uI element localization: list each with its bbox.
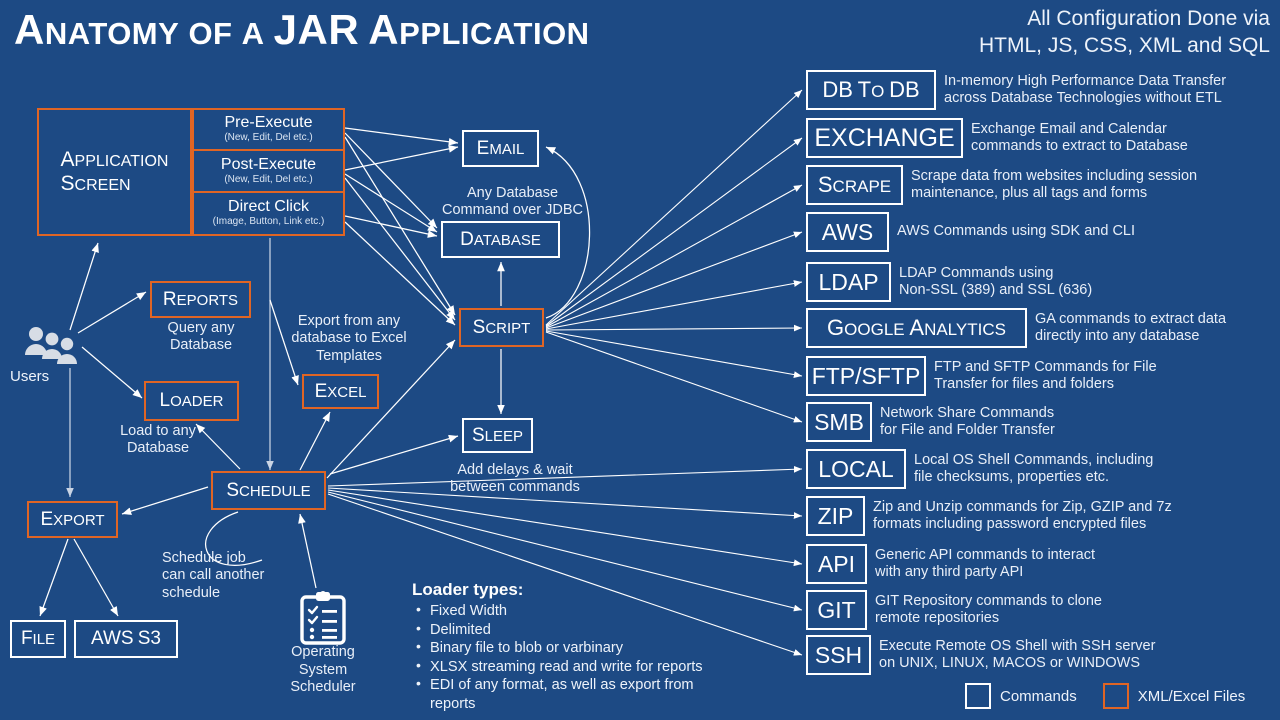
node-database[interactable]: DATABASE [441, 221, 560, 258]
command-desc-scrape: Scrape data from websites including sess… [911, 168, 1197, 203]
command-desc-zip: Zip and Unzip commands for Zip, GZIP and… [873, 499, 1172, 534]
command-desc-smb: Network Share Commandsfor File and Folde… [880, 405, 1055, 440]
command-label-aws: AWS [822, 219, 874, 246]
command-row-smb: SMBNetwork Share Commandsfor File and Fo… [806, 402, 1055, 442]
caption-load-to-any-database: Load to anyDatabase [88, 423, 228, 458]
cell-post-execute-sub: (New, Edit, Del etc.) [224, 175, 312, 186]
command-box-db-to-db[interactable]: DB TO DB [806, 70, 936, 110]
loader-type-item: Binary file to blob or varbinary [412, 639, 742, 658]
command-box-google-analytics[interactable]: GOOGLE ANALYTICS [806, 308, 1027, 348]
cell-pre-execute[interactable]: Pre-Execute (New, Edit, Del etc.) [192, 108, 345, 151]
clipboard-checklist-icon [297, 590, 349, 646]
command-label-exchange: EXCHANGE [814, 124, 954, 153]
command-box-ftp-sftp[interactable]: FTP/SFTP [806, 356, 926, 396]
application-screen-box[interactable]: APPLICATIONSCREEN [37, 108, 192, 236]
application-screen-label: APPLICATIONSCREEN [61, 148, 169, 196]
cell-pre-execute-title: Pre-Execute [224, 115, 312, 132]
command-label-api: API [818, 551, 855, 578]
legend-item-xml-excel: XML/Excel Files [1103, 683, 1246, 709]
node-sleep[interactable]: SLEEP [462, 418, 533, 453]
command-box-smb[interactable]: SMB [806, 402, 872, 442]
node-script[interactable]: SCRIPT [459, 308, 544, 347]
node-script-label: SCRIPT [473, 317, 531, 339]
node-schedule-label: SCHEDULE [226, 480, 310, 502]
node-aws-s3[interactable]: AWS S3 [74, 620, 178, 658]
subtitle-line-2: HTML, JS, CSS, XML and SQL [979, 33, 1270, 60]
command-box-aws[interactable]: AWS [806, 212, 889, 252]
command-row-ldap: LDAPLDAP Commands usingNon-SSL (389) and… [806, 262, 1092, 302]
page-title: ANATOMY OF A JAR APPLICATION [14, 6, 590, 54]
command-label-scrape: SCRAPE [818, 172, 891, 198]
command-label-zip: ZIP [818, 503, 854, 530]
command-box-exchange[interactable]: EXCHANGE [806, 118, 963, 158]
page-title-text: ANATOMY OF A JAR APPLICATION [14, 6, 590, 53]
node-loader-label: LOADER [160, 390, 224, 412]
loader-types-list: Fixed WidthDelimitedBinary file to blob … [412, 602, 742, 713]
node-reports[interactable]: REPORTS [150, 281, 251, 318]
command-desc-db-to-db: In-memory High Performance Data Transfer… [944, 73, 1226, 108]
cell-direct-click[interactable]: Direct Click (Image, Button, Link etc.) [192, 193, 345, 236]
command-desc-aws: AWS Commands using SDK and CLI [897, 223, 1135, 240]
command-desc-api: Generic API commands to interactwith any… [875, 547, 1095, 582]
command-box-zip[interactable]: ZIP [806, 496, 865, 536]
command-row-ftp-sftp: FTP/SFTPFTP and SFTP Commands for FileTr… [806, 356, 1157, 396]
caption-export-from-any-db: Export from anydatabase to ExcelTemplate… [284, 313, 414, 365]
command-desc-ssh: Execute Remote OS Shell with SSH servero… [879, 638, 1155, 673]
command-desc-google-analytics: GA commands to extract datadirectly into… [1035, 311, 1226, 346]
application-screen-group[interactable]: APPLICATIONSCREEN Pre-Execute (New, Edit… [37, 108, 345, 236]
loader-type-item: Fixed Width [412, 602, 742, 621]
cell-direct-click-title: Direct Click [228, 199, 309, 216]
users-label: Users [10, 368, 49, 385]
os-scheduler-label: OperatingSystemScheduler [268, 644, 378, 697]
subtitle-line-1: All Configuration Done via [979, 6, 1270, 33]
node-sleep-label: SLEEP [472, 425, 523, 447]
command-label-local: LOCAL [818, 456, 893, 483]
cell-post-execute[interactable]: Post-Execute (New, Edit, Del etc.) [192, 151, 345, 194]
command-label-smb: SMB [814, 409, 864, 436]
command-desc-exchange: Exchange Email and Calendarcommands to e… [971, 121, 1188, 156]
command-row-exchange: EXCHANGEExchange Email and Calendarcomma… [806, 118, 1188, 158]
node-file[interactable]: FILE [10, 620, 66, 658]
node-email[interactable]: EMAIL [462, 130, 539, 167]
loader-type-item: Delimited [412, 621, 742, 640]
command-row-api: APIGeneric API commands to interactwith … [806, 544, 1095, 584]
legend-item-commands: Commands [965, 683, 1077, 709]
node-aws-s3-label: AWS S3 [91, 628, 161, 650]
loader-types-title: Loader types: [412, 580, 742, 600]
node-file-label: FILE [21, 628, 55, 650]
node-email-label: EMAIL [477, 138, 525, 160]
command-row-scrape: SCRAPEScrape data from websites includin… [806, 165, 1197, 205]
node-export[interactable]: EXPORT [27, 501, 118, 538]
application-screen-subcells: Pre-Execute (New, Edit, Del etc.) Post-E… [192, 108, 345, 236]
command-box-scrape[interactable]: SCRAPE [806, 165, 903, 205]
cell-direct-click-sub: (Image, Button, Link etc.) [213, 217, 325, 228]
command-box-git[interactable]: GIT [806, 590, 867, 630]
caption-add-delays: Add delays & waitbetween commands [430, 462, 600, 497]
command-label-google-analytics: GOOGLE ANALYTICS [827, 315, 1006, 341]
caption-schedule-job-call: Schedule jobcan call anotherschedule [162, 550, 302, 602]
command-row-google-analytics: GOOGLE ANALYTICSGA commands to extract d… [806, 308, 1226, 348]
legend-swatch-commands [965, 683, 991, 709]
legend: Commands XML/Excel Files [965, 683, 1245, 709]
command-box-local[interactable]: LOCAL [806, 449, 906, 489]
node-export-label: EXPORT [40, 509, 104, 531]
legend-label-commands: Commands [1000, 688, 1077, 705]
node-excel[interactable]: EXCEL [302, 374, 379, 409]
node-database-label: DATABASE [460, 229, 541, 251]
command-desc-ldap: LDAP Commands usingNon-SSL (389) and SSL… [899, 265, 1092, 300]
users-icon [22, 325, 84, 367]
command-row-git: GITGIT Repository commands to cloneremot… [806, 590, 1102, 630]
command-row-local: LOCALLocal OS Shell Commands, includingf… [806, 449, 1153, 489]
loader-type-item: XLSX streaming read and write for report… [412, 658, 742, 677]
loader-type-item: EDI of any format, as well as export fro… [412, 676, 742, 713]
node-excel-label: EXCEL [315, 381, 367, 403]
node-loader[interactable]: LOADER [144, 381, 239, 421]
caption-query-any-database: Query anyDatabase [150, 320, 252, 355]
command-desc-local: Local OS Shell Commands, includingfile c… [914, 452, 1153, 487]
caption-any-database-jdbc: Any DatabaseCommand over JDBC [425, 185, 600, 220]
command-row-aws: AWSAWS Commands using SDK and CLI [806, 212, 1135, 252]
command-label-git: GIT [817, 597, 855, 624]
cell-post-execute-title: Post-Execute [221, 157, 316, 174]
command-box-ssh[interactable]: SSH [806, 635, 871, 675]
header-subtitle: All Configuration Done via HTML, JS, CSS… [979, 6, 1270, 60]
command-row-ssh: SSHExecute Remote OS Shell with SSH serv… [806, 635, 1155, 675]
command-box-api[interactable]: API [806, 544, 867, 584]
command-label-ssh: SSH [815, 642, 862, 669]
legend-label-xml-excel: XML/Excel Files [1138, 688, 1246, 705]
command-desc-git: GIT Repository commands to cloneremote r… [875, 593, 1102, 628]
command-row-zip: ZIPZip and Unzip commands for Zip, GZIP … [806, 496, 1172, 536]
command-label-ldap: LDAP [818, 269, 878, 296]
command-row-db-to-db: DB TO DBIn-memory High Performance Data … [806, 70, 1226, 110]
node-schedule[interactable]: SCHEDULE [211, 471, 326, 510]
command-label-db-to-db: DB TO DB [822, 77, 919, 103]
loader-types-panel: Loader types: Fixed WidthDelimitedBinary… [412, 580, 742, 713]
legend-swatch-xml-excel [1103, 683, 1129, 709]
command-desc-ftp-sftp: FTP and SFTP Commands for FileTransfer f… [934, 359, 1157, 394]
command-label-ftp-sftp: FTP/SFTP [812, 363, 921, 390]
cell-pre-execute-sub: (New, Edit, Del etc.) [224, 133, 312, 144]
command-box-ldap[interactable]: LDAP [806, 262, 891, 302]
node-reports-label: REPORTS [163, 289, 238, 311]
